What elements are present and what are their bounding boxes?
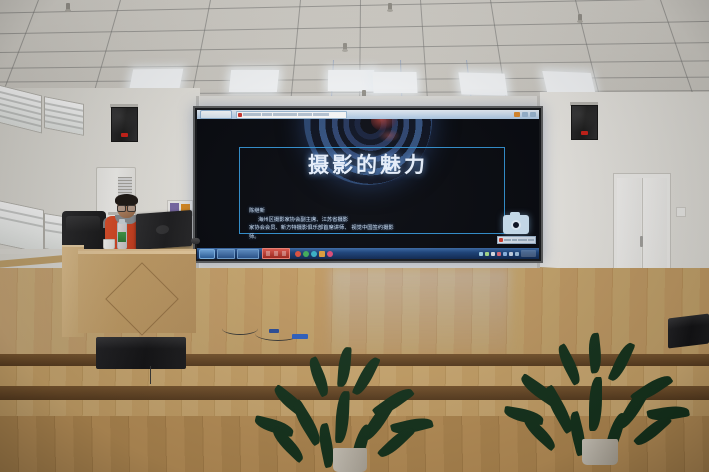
podium-diamond-inlay [105, 262, 179, 336]
room-photo-scene: 9 / 15mm f/2.8 摄影的魅力 陈继新 海州区摄影家协会副主席、江苏省… [0, 0, 709, 472]
tray-icon[interactable] [491, 252, 495, 256]
podium [78, 249, 196, 333]
led-video-wall[interactable]: 9 / 15mm f/2.8 摄影的魅力 陈继新 海州区摄影家协会副主席、江苏省… [193, 106, 543, 263]
plant-pot [582, 439, 618, 465]
speaker-name: 陈继新 [249, 207, 399, 215]
stage-monitor-left [96, 337, 186, 369]
tray-icon[interactable] [509, 252, 513, 256]
sprinkler-icon [66, 3, 70, 10]
presentation-slide: 9 / 15mm f/2.8 摄影的魅力 陈继新 海州区摄影家协会副主席、江苏省… [197, 119, 539, 248]
bottle-cap [119, 219, 125, 224]
app-icon-cyan[interactable] [311, 251, 317, 257]
floor-tape-2 [269, 329, 279, 333]
podium-top-edge [78, 251, 196, 254]
screen-content: 9 / 15mm f/2.8 摄影的魅力 陈继新 海州区摄影家协会副主席、江苏省… [197, 110, 539, 259]
light-switch[interactable] [676, 207, 686, 217]
cable-c [150, 366, 159, 384]
slide-speaker-bio: 陈继新 海州区摄影家协会副主席、江苏省摄影 家协会会员、新方特摄影俱乐部首席讲师… [249, 207, 399, 241]
watermark-badge [497, 236, 536, 244]
tray-icon[interactable] [485, 252, 489, 256]
windows-taskbar[interactable] [197, 248, 539, 259]
minimize-button[interactable] [514, 112, 520, 117]
wall-speaker-left [111, 107, 138, 142]
app-icon-green[interactable] [303, 251, 309, 257]
tray-icon[interactable] [497, 252, 501, 256]
start-button[interactable] [199, 249, 215, 259]
close-button[interactable] [530, 112, 536, 117]
taskbar-item[interactable] [217, 249, 235, 259]
ceiling-light-panel [372, 72, 417, 93]
sprinkler-icon [343, 43, 347, 50]
ceiling-light-panel [458, 72, 507, 95]
jbl-logo-icon [581, 131, 588, 135]
taskbar-quick-icons[interactable] [295, 251, 333, 257]
potted-plant-right [535, 325, 665, 465]
taskbar-item[interactable] [237, 249, 259, 259]
door-handle[interactable] [640, 236, 643, 247]
app-icon-red[interactable] [295, 251, 301, 257]
maximize-button[interactable] [522, 112, 528, 117]
taskbar-clock[interactable] [521, 250, 536, 257]
browser-tab[interactable] [200, 110, 232, 119]
browser-window-controls[interactable] [514, 112, 536, 117]
sprinkler-icon [578, 14, 582, 21]
jbl-logo-icon [121, 133, 128, 137]
ceiling-light-panel [229, 70, 279, 92]
water-bottle[interactable] [117, 222, 127, 250]
slide-title: 摄影的魅力 [197, 149, 539, 179]
stage-monitor-right [668, 313, 709, 348]
cable-a [222, 322, 258, 335]
tray-icon[interactable] [479, 252, 483, 256]
potted-plant-left [285, 335, 415, 472]
browser-address-bar[interactable] [236, 111, 347, 119]
bio-line-1: 海州区摄影家协会副主席、江苏省摄影 [249, 216, 399, 224]
plant-pot [333, 448, 367, 472]
app-icon-orange[interactable] [319, 251, 325, 257]
sprinkler-icon [388, 3, 392, 10]
app-icon-pink[interactable] [327, 251, 333, 257]
laptop[interactable] [136, 210, 192, 250]
system-tray[interactable] [479, 250, 536, 257]
taskbar-active-window[interactable] [262, 248, 290, 259]
mouse[interactable] [191, 238, 200, 244]
glasses-icon [117, 205, 136, 210]
wall-speaker-right [571, 105, 598, 140]
window-lower-left [0, 200, 44, 254]
ceiling-light-panel [328, 70, 374, 91]
tray-icon[interactable] [515, 252, 519, 256]
badge-icon [499, 238, 503, 242]
camera-icon [503, 215, 529, 234]
tray-icon[interactable] [503, 252, 507, 256]
bottle-label [118, 232, 126, 242]
bio-line-2: 家协会会员、新方特摄影俱乐部首席讲师、 [249, 225, 350, 231]
favicon-icon [238, 113, 242, 117]
